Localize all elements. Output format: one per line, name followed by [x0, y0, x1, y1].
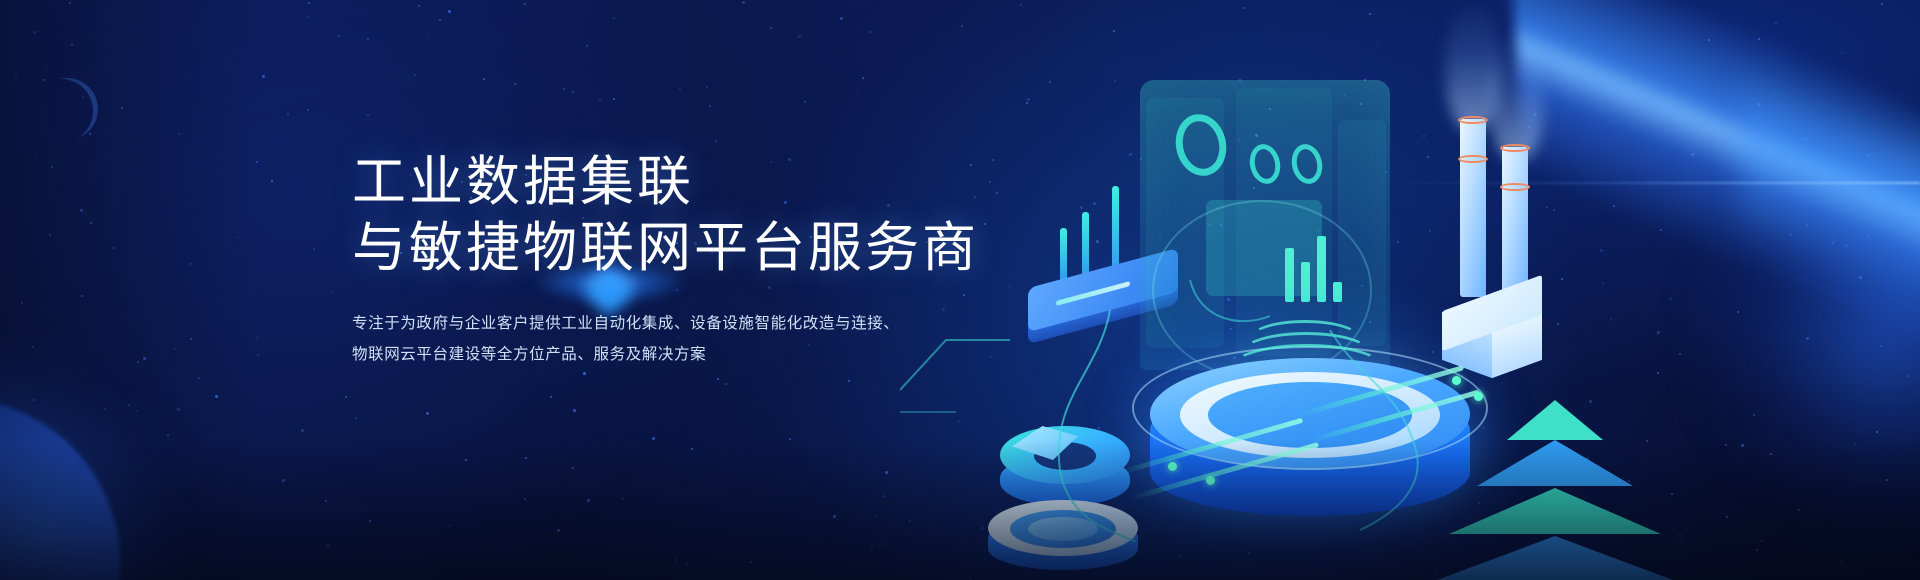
headline-line-1: 工业数据集联: [352, 150, 1092, 216]
beam-node: [1474, 392, 1483, 401]
bar: [1317, 236, 1326, 302]
platform-stripe: [1250, 320, 1360, 356]
headline-line-2: 与敏捷物联网平台服务商: [352, 216, 1092, 282]
bar: [1333, 282, 1342, 302]
tower-glass-body: [1140, 80, 1390, 370]
bar: [1301, 262, 1310, 302]
platform-ring-inner: [1208, 382, 1412, 448]
factory-base-cube: [1442, 293, 1542, 371]
smokestack: [1460, 119, 1486, 297]
cube-face-top: [1442, 275, 1542, 351]
hero-copy: 工业数据集联 与敏捷物联网平台服务商 专注于为政府与企业客户提供工业自动化集成、…: [352, 150, 1092, 370]
gauge-ring-icon: [1288, 141, 1326, 186]
cube-face-left: [1442, 312, 1492, 378]
glass-data-tower-icon: [1140, 80, 1390, 370]
tower-arc: [1152, 200, 1372, 380]
subtitle-line-2: 物联网云平台建设等全方位产品、服务及解决方案: [352, 339, 1092, 370]
tower-panel: [1338, 120, 1386, 346]
bar: [1285, 248, 1294, 302]
gauge-ring-icon: [1246, 141, 1284, 186]
light-streak-secondary: [1740, 0, 1920, 380]
beam-node: [1452, 376, 1461, 385]
tower-screen: [1206, 200, 1322, 296]
subtitle-line-1: 专注于为政府与企业客户提供工业自动化集成、设备设施智能化改造与连接、: [352, 308, 1092, 339]
tower-panel: [1146, 98, 1224, 348]
bottom-vignette: [0, 440, 1920, 580]
router-antenna: [1112, 186, 1119, 290]
data-beam: [1309, 390, 1480, 443]
platform-stripe: [1232, 344, 1382, 388]
smoke-plume: [1446, 0, 1500, 129]
tower-bar-chart: [1285, 230, 1355, 302]
data-beam: [1299, 365, 1464, 417]
tower-panel: [1236, 88, 1332, 356]
hero-banner: 工业数据集联 与敏捷物联网平台服务商 专注于为政府与企业客户提供工业自动化集成、…: [0, 0, 1920, 580]
platform-stripe: [1242, 332, 1370, 372]
horizon-light-line: [1360, 182, 1920, 184]
gauge-ring-icon: [1170, 109, 1232, 180]
